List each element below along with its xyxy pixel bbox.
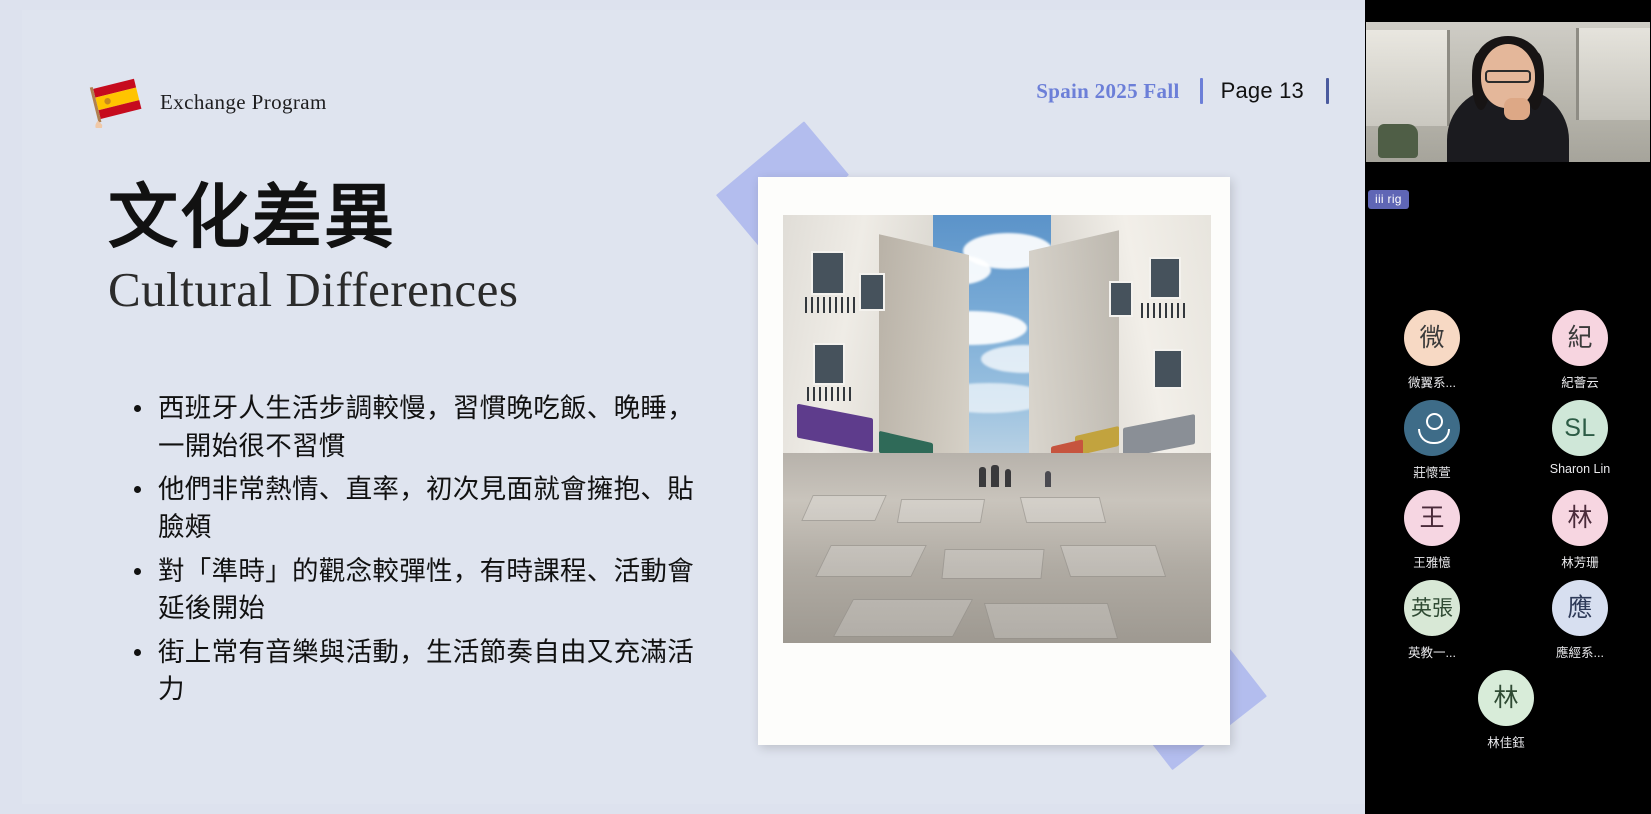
- page-title-zh: 文化差異: [108, 182, 396, 252]
- avatar: 王: [1404, 490, 1460, 546]
- self-view-name-badge: iii rig: [1368, 190, 1409, 209]
- participant-tile[interactable]: 林 林芳珊: [1515, 490, 1645, 571]
- bullet-list: 西班牙人生活步調較慢，習慣晚吃飯、晚睡，一開始很不習慣 他們非常熱情、直率，初次…: [128, 390, 698, 715]
- polaroid-caption: [758, 683, 1230, 745]
- avatar: 紀: [1552, 310, 1608, 366]
- brand-label: Exchange Program: [160, 90, 327, 115]
- avatar: 英張: [1404, 580, 1460, 636]
- avatar: 林: [1552, 490, 1608, 546]
- participant-name: 林芳珊: [1515, 552, 1645, 571]
- list-item: 街上常有音樂與活動，生活節奏自由又充滿活力: [128, 634, 698, 709]
- participant-name: 紀薈云: [1515, 372, 1645, 391]
- participant-name: 應經系...: [1515, 642, 1645, 661]
- plant-decoration: [1378, 124, 1418, 158]
- list-item: 他們非常熱情、直率，初次見面就會擁抱、貼臉頰: [128, 471, 698, 546]
- participant-name: 微翼系...: [1367, 372, 1497, 391]
- participant-name: 英教一...: [1367, 642, 1497, 661]
- participant-tile[interactable]: 王 王雅憶: [1367, 490, 1497, 571]
- header-meta: Spain 2025 Fall Page 13: [1036, 78, 1329, 104]
- self-view-video-tile[interactable]: [1366, 22, 1650, 162]
- participant-tile[interactable]: 應 應經系...: [1515, 580, 1645, 661]
- participant-tile[interactable]: 紀 紀薈云: [1515, 310, 1645, 391]
- page-label: Page 13: [1221, 78, 1304, 104]
- participant-name: 莊懷萱: [1367, 462, 1497, 481]
- header-divider-secondary-icon: [1326, 78, 1329, 104]
- participant-hand: [1504, 98, 1530, 120]
- participant-tile[interactable]: 微 微翼系...: [1367, 310, 1497, 391]
- avatar: [1404, 400, 1460, 456]
- polaroid-frame: [758, 177, 1230, 745]
- list-item: 西班牙人生活步調較慢，習慣晚吃飯、晚睡，一開始很不習慣: [128, 390, 698, 465]
- participant-name: 王雅憶: [1367, 552, 1497, 571]
- avatar: 應: [1552, 580, 1608, 636]
- avatar: SL: [1552, 400, 1608, 456]
- slide-canvas: Exchange Program Spain 2025 Fall Page 13…: [22, 10, 1365, 804]
- meeting-screen: Exchange Program Spain 2025 Fall Page 13…: [0, 0, 1651, 814]
- slide-header: Exchange Program Spain 2025 Fall Page 13: [84, 70, 1329, 126]
- participant-name: 林佳鈺: [1441, 732, 1571, 751]
- shared-slide[interactable]: Exchange Program Spain 2025 Fall Page 13…: [0, 0, 1365, 814]
- participant-grid[interactable]: 微 微翼系... 紀 紀薈云 莊懷萱 SL Sharon Lin 王 王雅憶 林…: [1365, 300, 1651, 760]
- avatar: 林: [1478, 670, 1534, 726]
- page-title-en: Cultural Differences: [108, 262, 518, 318]
- avatar: 微: [1404, 310, 1460, 366]
- header-divider-icon: [1200, 78, 1203, 104]
- spanish-street-photo: [783, 215, 1211, 643]
- term-label: Spain 2025 Fall: [1036, 79, 1179, 104]
- list-item: 對「準時」的觀念較彈性，有時課程、活動會延後開始: [128, 553, 698, 628]
- participant-tile[interactable]: 莊懷萱: [1367, 400, 1497, 481]
- participant-tile[interactable]: 林 林佳鈺: [1441, 670, 1571, 751]
- participant-name: Sharon Lin: [1515, 462, 1645, 476]
- participant-tile[interactable]: SL Sharon Lin: [1515, 400, 1645, 476]
- participant-tile[interactable]: 英張 英教一...: [1367, 580, 1497, 661]
- brand-block: Exchange Program: [84, 76, 327, 128]
- user-avatar-icon: [1417, 413, 1447, 443]
- glasses-icon: [1485, 70, 1531, 83]
- spain-flag-icon: [84, 76, 146, 128]
